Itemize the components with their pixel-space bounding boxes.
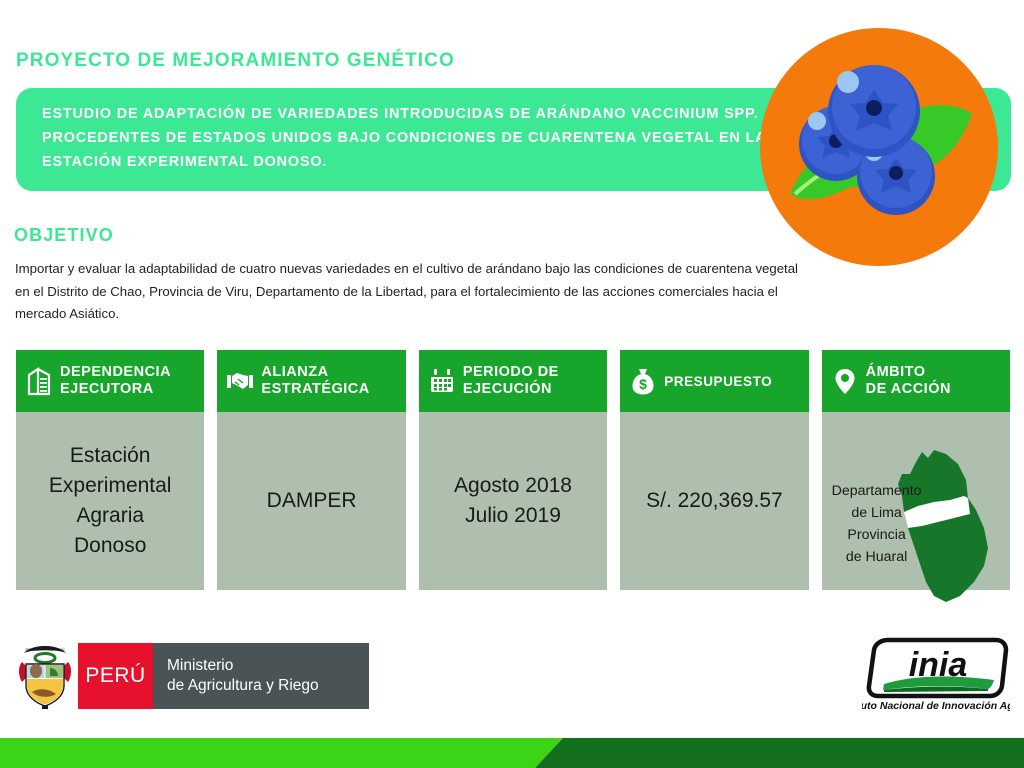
peru-shield-caption: REPÚBLICA DEL PERÚ: [0, 0, 1, 1]
inia-wordmark-text: inia: [0, 0, 1, 1]
objective-text: Importar y evaluar la adaptabilidad de c…: [15, 258, 805, 326]
card-header: ALIANZA ESTRATÉGICA: [217, 350, 405, 412]
card-header: DEPENDENCIA EJECUTORA: [16, 350, 204, 412]
page-title: PROYECTO DE MEJORAMIENTO GENÉTICO: [16, 50, 455, 72]
inia-logo-icon: inia Instituto Nacional de Innovación Ag…: [862, 636, 1010, 714]
ministry-badge: Ministerio de Agricultura y Riego: [153, 643, 369, 709]
objective-heading: OBJETIVO: [14, 225, 114, 246]
card-dependencia-ejecutora: DEPENDENCIA EJECUTORA Estación Experimen…: [16, 350, 204, 590]
infographic-page: PROYECTO DE MEJORAMIENTO GENÉTICO ESTUDI…: [0, 0, 1024, 768]
card-header: PERIODO DE EJECUCIÓN: [419, 350, 607, 412]
peru-country-label: PERÚ: [78, 664, 153, 688]
svg-text:REPÚBLICA DEL PERÚ: REPÚBLICA DEL PERÚ: [25, 647, 64, 652]
study-title-text: ESTUDIO DE ADAPTACIÓN DE VARIEDADES INTR…: [42, 102, 782, 174]
info-cards-row: DEPENDENCIA EJECUTORA Estación Experimen…: [16, 350, 1010, 590]
card-value: Agosto 2018 Julio 2019: [419, 412, 607, 590]
inia-tagline-text: Instituto Nacional de Innovación Agraria: [0, 0, 1, 1]
card-title: ÁMBITO DE ACCIÓN: [866, 364, 951, 398]
building-icon: [25, 366, 53, 396]
card-value: Estación Experimental Agraria Donoso: [16, 412, 204, 590]
calendar-icon: [428, 366, 456, 396]
card-title: PRESUPUESTO: [664, 373, 772, 390]
card-presupuesto: $ PRESUPUESTO S/. 220,369.57: [620, 350, 808, 590]
peru-country-badge: PERÚ: [78, 643, 153, 709]
card-title: DEPENDENCIA EJECUTORA: [60, 364, 171, 398]
peru-ministry-logo: REPÚBLICA DEL PERÚ PERÚ Ministerio de Ag…: [14, 640, 369, 712]
handshake-icon: [226, 366, 254, 396]
card-periodo-de-ejecucion: PERIODO DE EJECUCIÓN Agosto 2018 Julio 2…: [419, 350, 607, 590]
card-title: PERIODO DE EJECUCIÓN: [463, 364, 559, 398]
card-value: DAMPER: [217, 412, 405, 590]
card-value-map: Departamento de Lima Provincia de Huaral: [822, 412, 1010, 590]
card-value-text: Departamento de Lima Provincia de Huaral: [832, 480, 922, 568]
card-value: S/. 220,369.57: [620, 412, 808, 590]
blueberries-icon: [760, 28, 998, 266]
inia-tagline: Instituto Nacional de Innovación Agraria: [862, 700, 1010, 712]
peru-coat-of-arms-icon: REPÚBLICA DEL PERÚ: [14, 642, 76, 710]
money-bag-icon: $: [629, 366, 657, 396]
card-ambito-de-accion: ÁMBITO DE ACCIÓN Departamento de Lima Pr…: [822, 350, 1010, 590]
bottom-accent-bar: [0, 738, 1024, 768]
card-header: ÁMBITO DE ACCIÓN: [822, 350, 1010, 412]
ministry-label: Ministerio de Agricultura y Riego: [167, 656, 319, 696]
card-title: ALIANZA ESTRATÉGICA: [261, 364, 369, 398]
card-header: $ PRESUPUESTO: [620, 350, 808, 412]
card-alianza-estrategica: ALIANZA ESTRATÉGICA DAMPER: [217, 350, 405, 590]
map-pin-icon: [831, 366, 859, 396]
svg-text:$: $: [639, 376, 647, 392]
